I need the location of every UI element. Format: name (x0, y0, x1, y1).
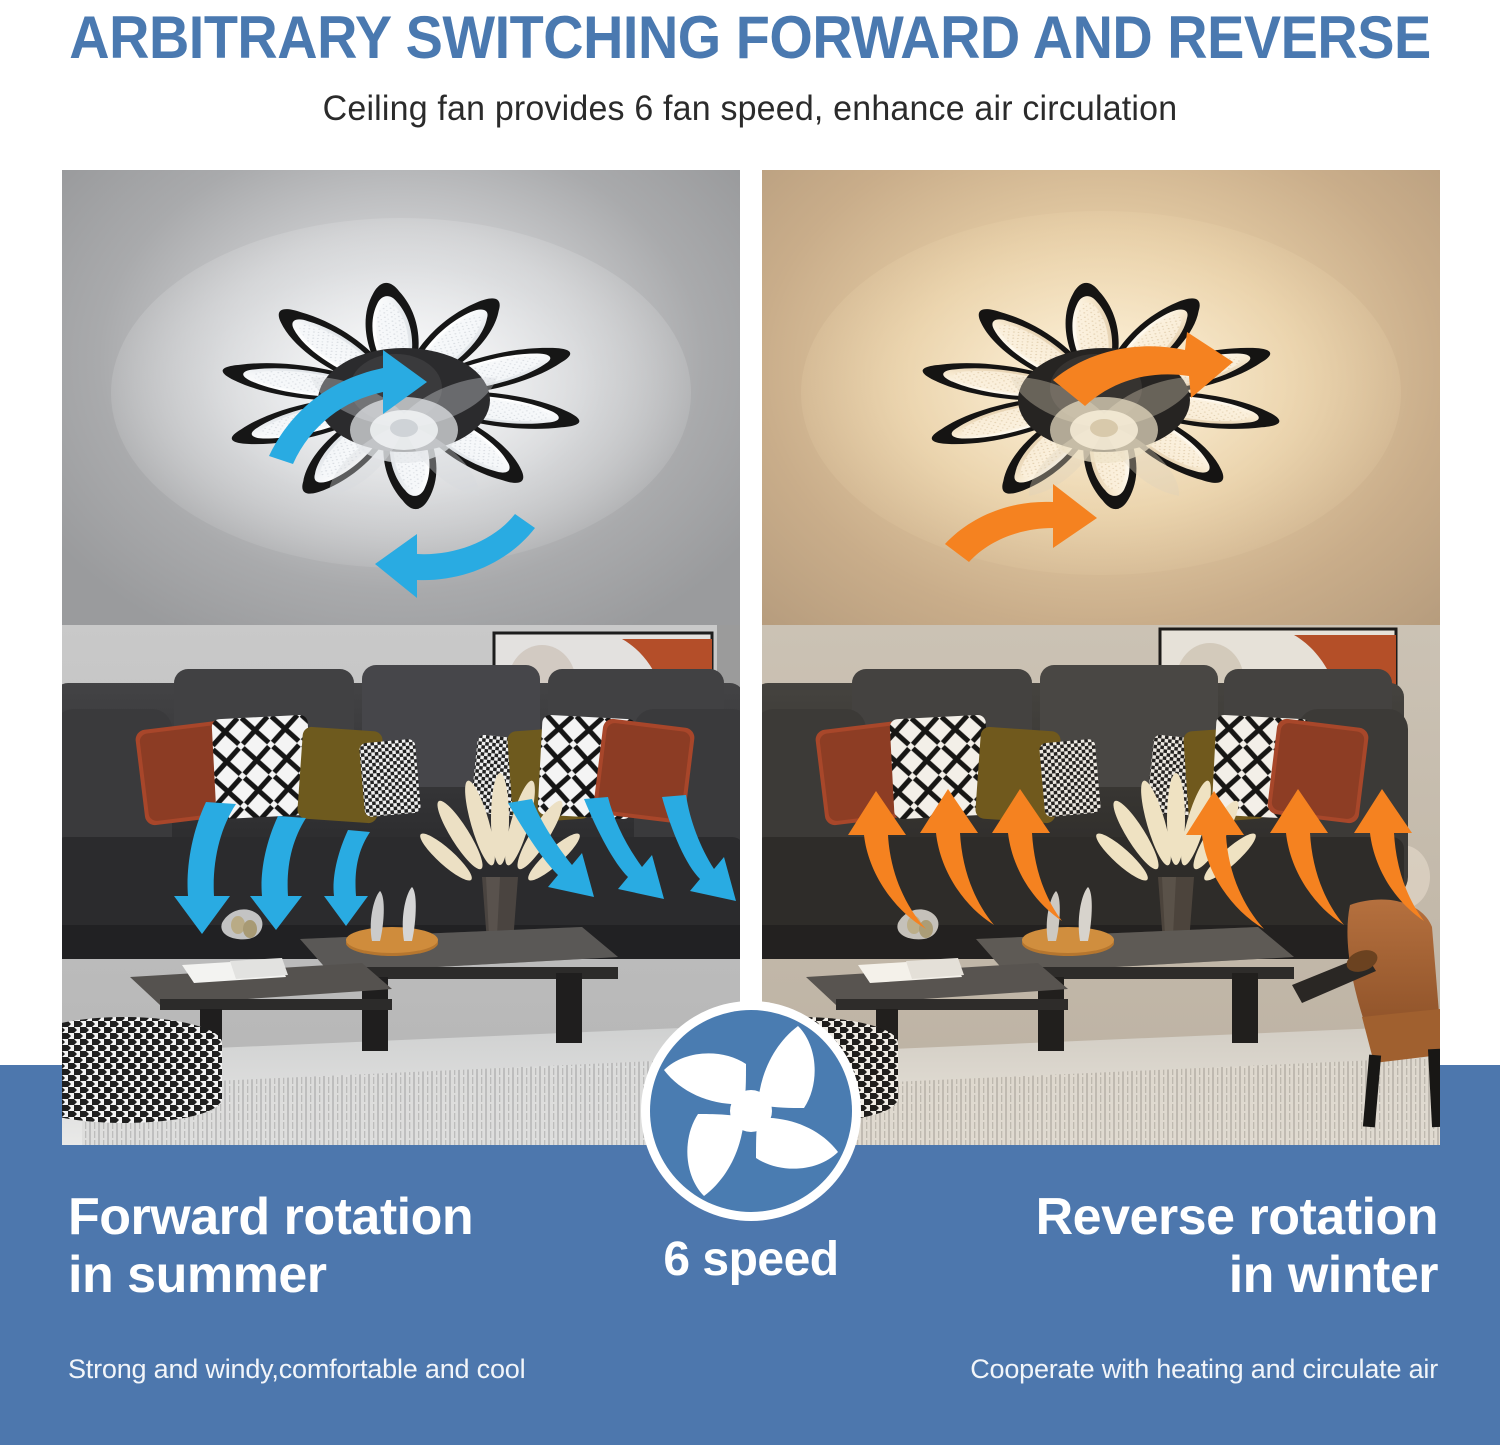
forward-rotation-caption: Forward rotation in summer Strong and wi… (68, 1188, 608, 1385)
fan-speed-badge (636, 996, 866, 1226)
page-title: ARBITRARY SWITCHING FORWARD AND REVERSE (53, 6, 1448, 69)
ceiling-fan-fixture-warm (821, 228, 1381, 568)
airflow-arrows-up-left (842, 787, 1092, 937)
airflow-arrows-down-left (172, 800, 412, 940)
forward-rotation-title: Forward rotation in summer (68, 1188, 608, 1304)
fan-speed-label: 6 speed (605, 1232, 897, 1287)
reverse-rotation-caption: Reverse rotation in winter Cooperate wit… (878, 1188, 1438, 1385)
reverse-rotation-subtitle: Cooperate with heating and circulate air (878, 1354, 1438, 1385)
ottoman (62, 1017, 222, 1123)
fan-blades-icon (636, 996, 866, 1226)
forward-rotation-subtitle: Strong and windy,comfortable and cool (68, 1354, 608, 1385)
ceiling-fan-fixture-cool (121, 228, 681, 568)
page-subtitle: Ceiling fan provides 6 fan speed, enhanc… (23, 89, 1478, 129)
reverse-rotation-title: Reverse rotation in winter (878, 1188, 1438, 1304)
airflow-arrows-down-right (502, 793, 740, 938)
airflow-arrows-up-right (1180, 787, 1430, 937)
header: ARBITRARY SWITCHING FORWARD AND REVERSE … (0, 0, 1500, 129)
